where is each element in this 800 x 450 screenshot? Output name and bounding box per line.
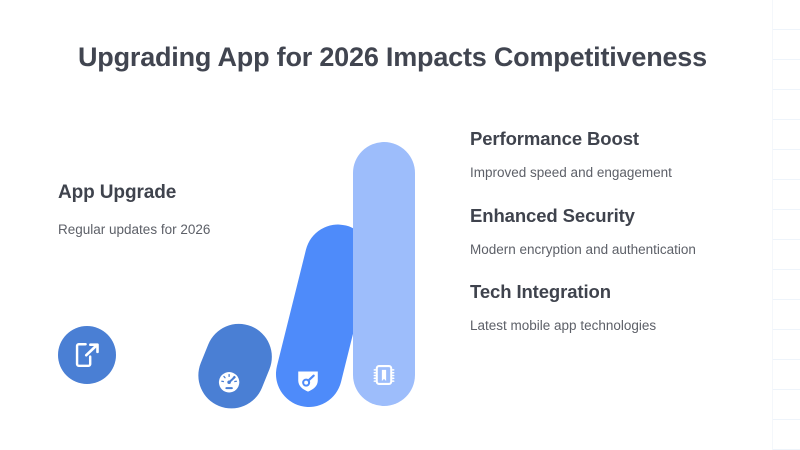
edge-panel-row xyxy=(773,30,800,60)
feature-description: Modern encryption and authentication xyxy=(470,240,730,260)
pill-bar-performance[interactable] xyxy=(188,314,281,418)
feature-description: Improved speed and engagement xyxy=(470,163,730,183)
mobile-growth-icon-badge[interactable] xyxy=(58,326,116,384)
edge-panel-row xyxy=(773,150,800,180)
edge-panel-row xyxy=(773,210,800,240)
edge-panel-row xyxy=(773,0,800,30)
edge-panel-row xyxy=(773,120,800,150)
feature-title: Performance Boost xyxy=(470,128,730,150)
feature-title: Tech Integration xyxy=(470,281,730,303)
slide-canvas: Upgrading App for 2026 Impacts Competiti… xyxy=(0,0,800,450)
feature-item: Tech Integration Latest mobile app techn… xyxy=(470,281,730,336)
feature-title: Enhanced Security xyxy=(470,205,730,227)
edge-panel-row xyxy=(773,270,800,300)
edge-panel-row xyxy=(773,360,800,390)
edge-panel-sliver xyxy=(772,0,800,450)
edge-panel-row xyxy=(773,60,800,90)
edge-panel-row xyxy=(773,300,800,330)
edge-panel-row xyxy=(773,240,800,270)
feature-description: Latest mobile app technologies xyxy=(470,316,730,336)
speedometer-icon xyxy=(212,364,246,398)
mobile-growth-icon xyxy=(72,340,102,370)
page-title: Upgrading App for 2026 Impacts Competiti… xyxy=(78,42,707,73)
pill-bar-graphic xyxy=(40,120,460,410)
edge-panel-row xyxy=(773,420,800,450)
feature-item: Performance Boost Improved speed and eng… xyxy=(470,128,730,183)
feature-item: Enhanced Security Modern encryption and … xyxy=(470,205,730,260)
edge-panel-row xyxy=(773,330,800,360)
edge-panel-row xyxy=(773,390,800,420)
shield-key-icon xyxy=(291,361,325,395)
pill-bar-tech[interactable] xyxy=(353,142,415,406)
feature-list: Performance Boost Improved speed and eng… xyxy=(470,128,730,336)
microchip-icon xyxy=(367,358,401,392)
edge-panel-row xyxy=(773,180,800,210)
edge-panel-row xyxy=(773,90,800,120)
